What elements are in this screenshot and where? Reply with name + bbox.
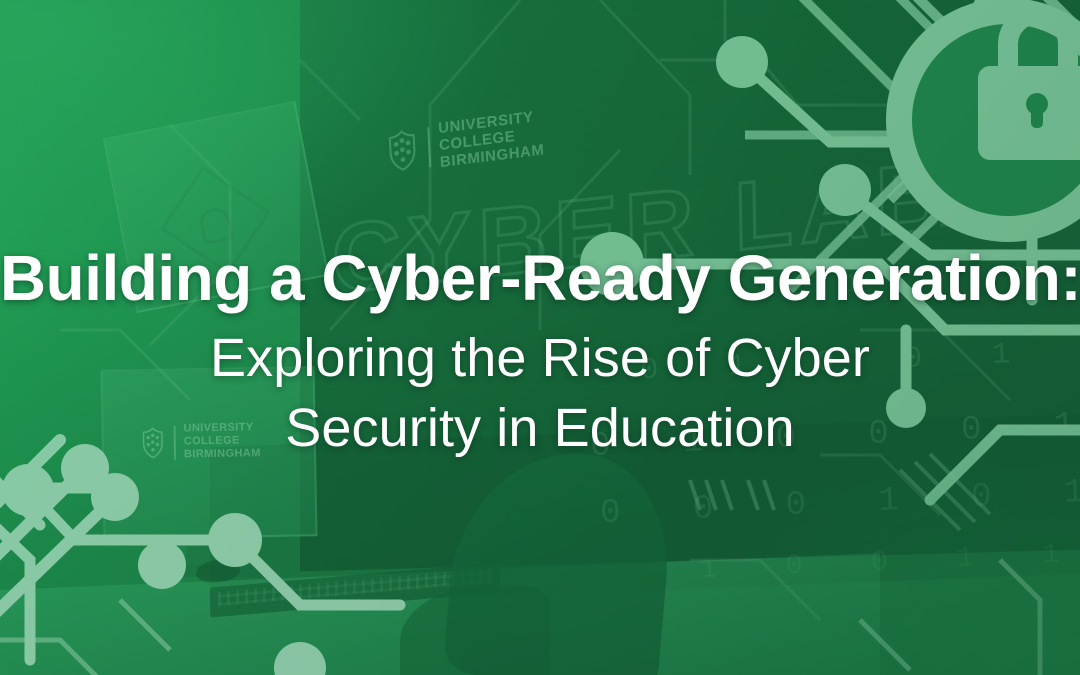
page-title: Building a Cyber-Ready Generation:	[0, 247, 1080, 311]
page-subtitle: Exploring the Rise of Cyber Security in …	[0, 323, 1080, 463]
page-subtitle-line-1: Exploring the Rise of Cyber	[0, 323, 1080, 393]
title-block: Building a Cyber-Ready Generation: Explo…	[0, 0, 1080, 675]
hero-banner: UNIVERSITY COLLEGE BIRMINGHAM CYBER LAB	[0, 0, 1080, 675]
page-subtitle-line-2: Security in Education	[0, 393, 1080, 463]
